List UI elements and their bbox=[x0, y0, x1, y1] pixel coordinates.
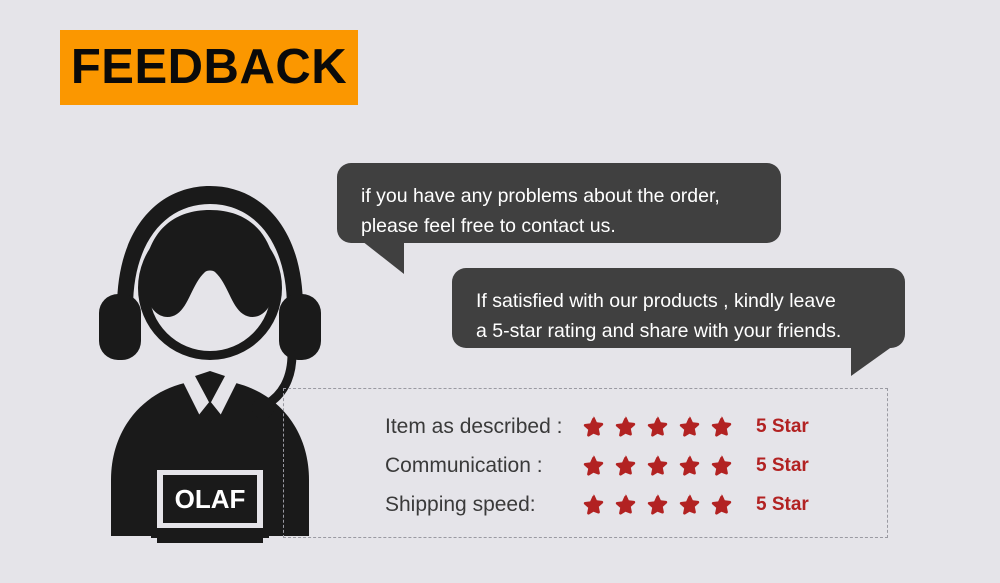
feedback-header-badge: FEEDBACK bbox=[60, 30, 358, 105]
rating-row-item-as-described: Item as described : 5 Star bbox=[385, 408, 855, 446]
rating-value: 5 Star bbox=[756, 494, 809, 516]
star-icon bbox=[709, 415, 734, 440]
speech-bubble-support: if you have any problems about the order… bbox=[337, 163, 781, 243]
rating-label: Communication : bbox=[385, 454, 581, 478]
rating-row-shipping-speed: Shipping speed: 5 Star bbox=[385, 486, 855, 524]
speech-bubble-support-text: if you have any problems about the order… bbox=[361, 181, 757, 241]
speech-bubble-rating-request: If satisfied with our products , kindly … bbox=[452, 268, 905, 348]
star-icon bbox=[677, 493, 702, 518]
star-icon bbox=[581, 454, 606, 479]
rating-label: Item as described : bbox=[385, 415, 581, 439]
star-icon bbox=[677, 454, 702, 479]
star-icon bbox=[581, 415, 606, 440]
star-icon bbox=[613, 493, 638, 518]
rating-stars bbox=[581, 415, 756, 440]
rating-value: 5 Star bbox=[756, 455, 809, 477]
rating-stars bbox=[581, 454, 756, 479]
speech-bubble-rating-request-tail bbox=[851, 346, 907, 376]
star-icon bbox=[677, 415, 702, 440]
star-icon bbox=[645, 493, 670, 518]
speech-bubble-rating-request-text: If satisfied with our products , kindly … bbox=[476, 286, 881, 346]
star-icon bbox=[709, 454, 734, 479]
feedback-banner: FEEDBACK bbox=[0, 0, 1000, 583]
rating-row-communication: Communication : 5 Star bbox=[385, 447, 855, 485]
rating-label: Shipping speed: bbox=[385, 493, 581, 517]
page-title: FEEDBACK bbox=[71, 43, 347, 92]
star-icon bbox=[581, 493, 606, 518]
star-icon bbox=[613, 454, 638, 479]
laptop-brand-label: OLAF bbox=[175, 484, 246, 514]
star-icon bbox=[709, 493, 734, 518]
rating-value: 5 Star bbox=[756, 416, 809, 438]
rating-stars bbox=[581, 493, 756, 518]
speech-bubble-support-tail bbox=[348, 241, 404, 274]
star-icon bbox=[645, 415, 670, 440]
star-icon bbox=[613, 415, 638, 440]
ratings-list: Item as described : 5 Star Communication… bbox=[385, 408, 855, 525]
star-icon bbox=[645, 454, 670, 479]
